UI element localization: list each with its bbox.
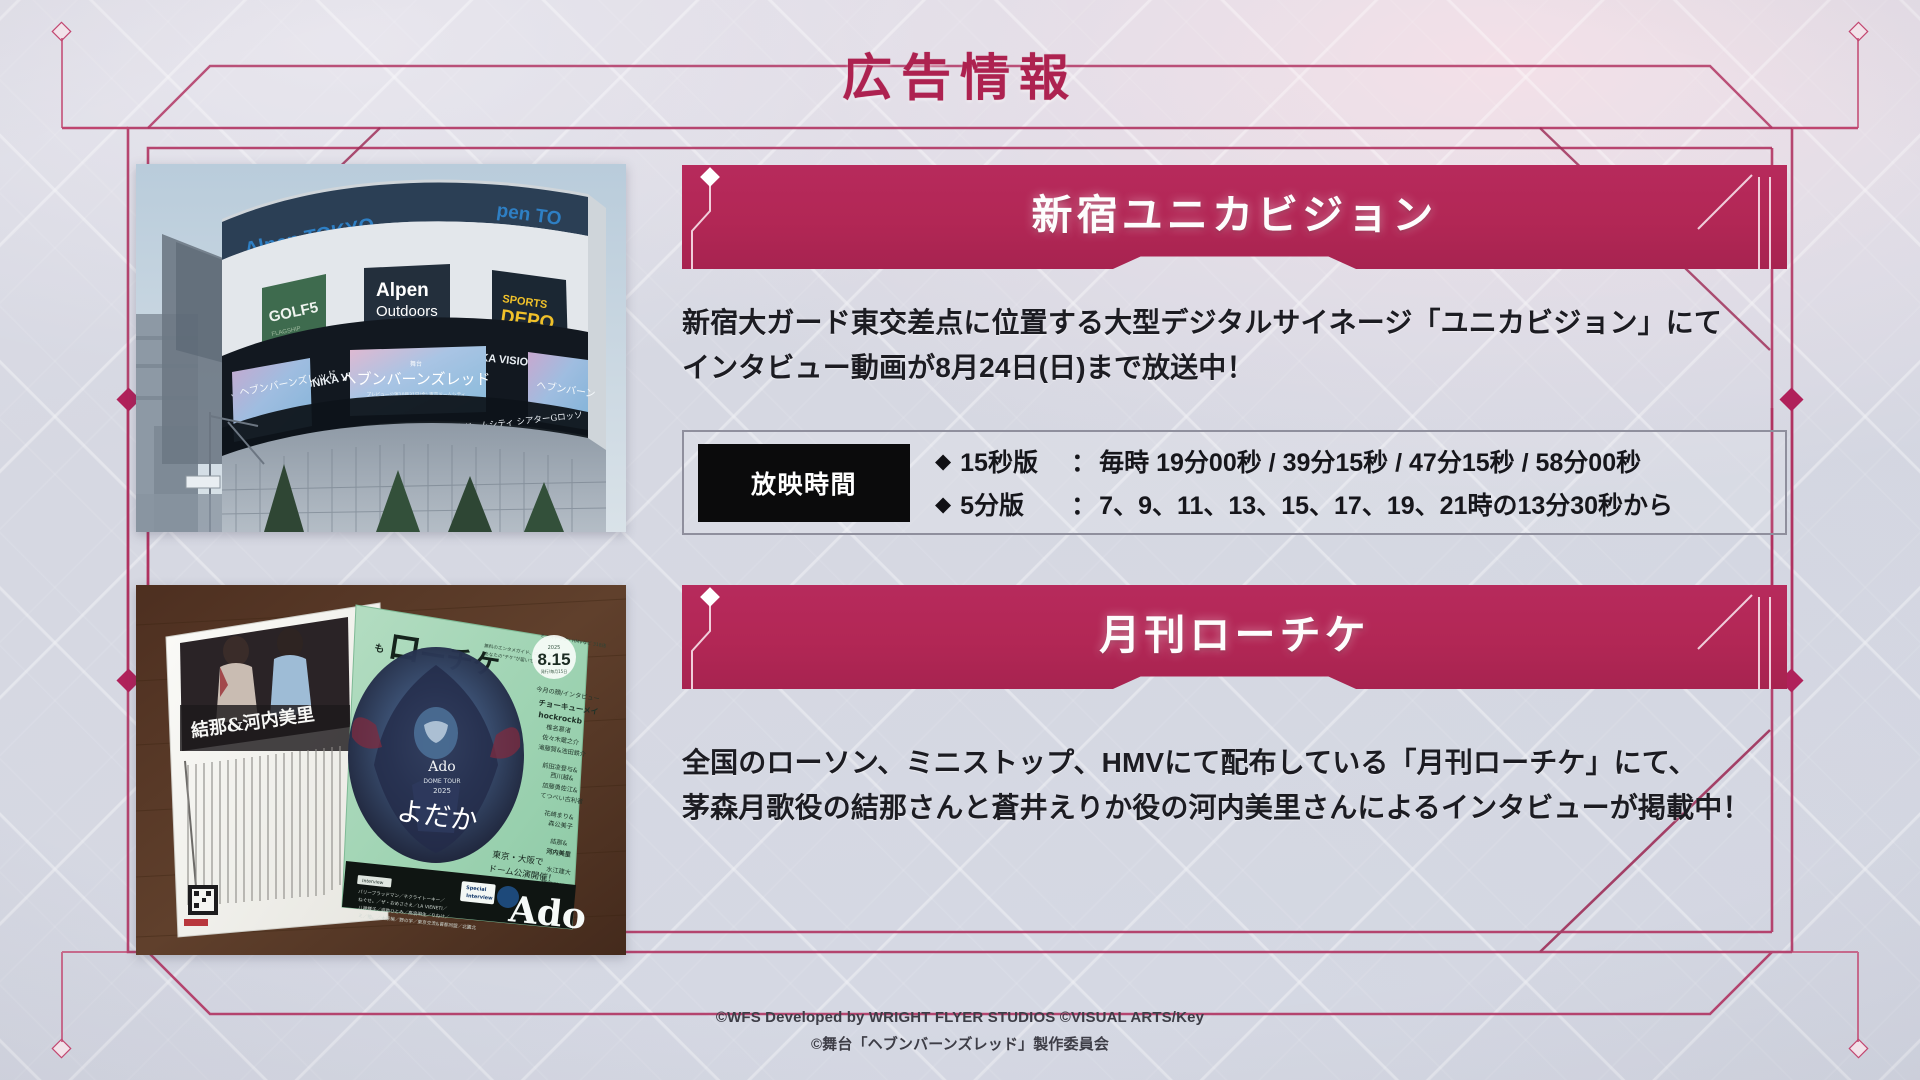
svg-text:発行/毎月15日: 発行/毎月15日 xyxy=(541,668,567,674)
photo-rochike-magazine: 結那&河内美里 xyxy=(136,585,626,955)
svg-text:Alpen: Alpen xyxy=(376,280,429,301)
section-banner-yunika: 新宿ユニカビジョン xyxy=(682,165,1787,269)
diamond-bullet-icon: ◆ xyxy=(935,492,951,517)
schedule-version: 5分版 xyxy=(960,486,1070,522)
copyright-line-1: ©WFS Developed by WRIGHT FLYER STUDIOS ©… xyxy=(0,1009,1920,1026)
schedule-label: 放映時間 xyxy=(698,444,910,522)
section-banner-rochike: 月刊ローチケ xyxy=(682,585,1787,689)
schedule-colon: ： xyxy=(1071,486,1096,522)
diamond-bullet-icon: ◆ xyxy=(935,449,951,474)
svg-text:8.15: 8.15 xyxy=(537,650,570,669)
description-line: 茅森月歌役の結那さんと蒼井えりか役の河内美里さんによるインタビューが掲載中！ xyxy=(682,785,1751,830)
schedule-version: 15秒版 xyxy=(960,443,1070,479)
photo-yunika-vision-building: Alpen TOKYO pen TO GOLF5 FLAGSHIP STORE … xyxy=(136,164,626,532)
svg-text:Ado: Ado xyxy=(427,759,456,775)
page-title: 広告情報 xyxy=(0,38,1920,110)
banner-label-yunika: 新宿ユニカビジョン xyxy=(682,165,1787,257)
schedule-rows: ◆ 15秒版 ： 毎時 19分00秒 / 39分15秒 / 47分15秒 / 5… xyxy=(935,443,1673,522)
svg-text:2025: 2025 xyxy=(433,787,451,795)
svg-text:舞台: 舞台 xyxy=(410,360,422,368)
schedule-row: ◆ 15秒版 ： 毎時 19分00秒 / 39分15秒 / 47分15秒 / 5… xyxy=(935,443,1673,479)
schedule-row: ◆ 5分版 ： 7、9、11、13、15、17、19、21時の13分30秒から xyxy=(935,486,1673,522)
schedule-times: 毎時 19分00秒 / 39分15秒 / 47分15秒 / 58分00秒 xyxy=(1099,443,1641,479)
schedule-colon: ： xyxy=(1071,443,1096,479)
copyright-line-2: ©舞台「ヘブンバーンズレッド」製作委員会 xyxy=(0,1033,1920,1054)
description-line: 新宿大ガード東交差点に位置する大型デジタルサイネージ「ユニカビジョン」にて xyxy=(682,300,1722,345)
description-yunika: 新宿大ガード東交差点に位置する大型デジタルサイネージ「ユニカビジョン」にて イン… xyxy=(682,300,1722,391)
description-line: インタビュー動画が8月24日(日)まで放送中！ xyxy=(682,345,1722,390)
svg-text:も: も xyxy=(374,642,386,655)
svg-text:ヘブンバーンズレッド: ヘブンバーンズレッド xyxy=(342,370,491,388)
footer-copyright: ©WFS Developed by WRIGHT FLYER STUDIOS ©… xyxy=(0,1009,1920,1054)
description-line: 全国のローソン、ミニストップ、HMVにて配布している「月刊ローチケ」にて、 xyxy=(682,740,1751,785)
broadcast-schedule-box: 放映時間 ◆ 15秒版 ： 毎時 19分00秒 / 39分15秒 / 47分15… xyxy=(682,430,1787,535)
schedule-times: 7、9、11、13、15、17、19、21時の13分30秒から xyxy=(1099,486,1673,522)
description-rochike: 全国のローソン、ミニストップ、HMVにて配布している「月刊ローチケ」にて、 茅森… xyxy=(682,740,1751,831)
banner-label-rochike: 月刊ローチケ xyxy=(682,585,1787,677)
svg-text:Outdoors: Outdoors xyxy=(376,303,438,320)
svg-text:DOME TOUR: DOME TOUR xyxy=(423,778,460,785)
